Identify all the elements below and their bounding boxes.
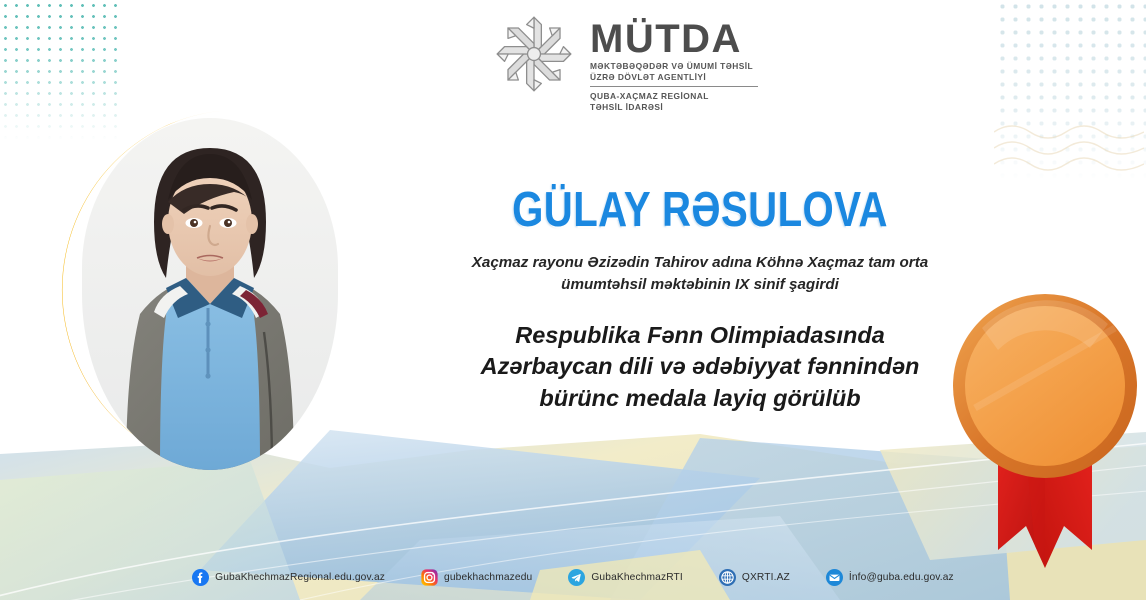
bronze-medal-with-red-ribbon-icon — [940, 288, 1146, 580]
student-photo — [82, 118, 338, 470]
logo-department-line1: QUBA-XAÇMAZ REGİONAL — [590, 91, 758, 102]
social-link-instagram[interactable]: gubekhachmazedu — [421, 569, 532, 586]
logo-department-line2: TƏHSİL İDARƏSİ — [590, 102, 758, 113]
school-description: Xaçmaz rayonu Əzizədin Tahirov adına Köh… — [400, 252, 1000, 295]
telegram-icon — [568, 569, 585, 586]
globe-icon — [719, 569, 736, 586]
logo-title: MÜTDA — [590, 20, 758, 58]
award-poster: MÜTDA MƏKTƏBƏQƏDƏR VƏ ÜMUMİ TƏHSİL ÜZRƏ … — [0, 0, 1146, 600]
student-portrait-illustration — [82, 118, 338, 470]
social-label-email: İnfo@guba.edu.gov.az — [849, 572, 954, 583]
mutda-logo: MÜTDA MƏKTƏBƏQƏDƏR VƏ ÜMUMİ TƏHSİL ÜZRƏ … — [488, 6, 758, 114]
facebook-icon — [192, 569, 209, 586]
social-link-email[interactable]: İnfo@guba.edu.gov.az — [826, 569, 954, 586]
award-description: Respublika Fənn Olimpiadasında Azərbayca… — [400, 320, 1000, 414]
award-line-3: bürünc medala layiq görülüb — [400, 383, 1000, 414]
social-label-instagram: gubekhachmazedu — [444, 572, 532, 583]
portrait-area — [6, 98, 342, 482]
award-line-1: Respublika Fənn Olimpiadasında — [400, 320, 1000, 351]
award-line-2: Azərbaycan dili və ədəbiyyat fənnindən — [400, 351, 1000, 382]
logo-divider — [590, 86, 758, 87]
email-icon — [826, 569, 843, 586]
instagram-icon — [421, 569, 438, 586]
mutda-pinwheel-emblem-icon — [488, 6, 580, 102]
social-link-facebook[interactable]: GubaKhechmazRegional.edu.gov.az — [192, 569, 385, 586]
social-link-website[interactable]: QXRTI.AZ — [719, 569, 790, 586]
logo-subtitle-line1: MƏKTƏBƏQƏDƏR VƏ ÜMUMİ TƏHSİL — [590, 61, 758, 72]
social-label-telegram: GubaKhechmazRTI — [591, 572, 683, 583]
social-label-facebook: GubaKhechmazRegional.edu.gov.az — [215, 572, 385, 583]
school-line-2: ümumtəhsil məktəbinin IX sinif şagirdi — [400, 274, 1000, 296]
social-links-bar: GubaKhechmazRegional.edu.gov.az gubekhac… — [0, 569, 1146, 586]
school-line-1: Xaçmaz rayonu Əzizədin Tahirov adına Köh… — [400, 252, 1000, 274]
social-label-website: QXRTI.AZ — [742, 572, 790, 583]
logo-subtitle-line2: ÜZRƏ DÖVLƏT AGENTLİYİ — [590, 72, 758, 83]
student-name: GÜLAY RƏSULOVA — [454, 186, 946, 235]
wave-lines-decoration — [994, 118, 1144, 178]
social-link-telegram[interactable]: GubaKhechmazRTI — [568, 569, 683, 586]
